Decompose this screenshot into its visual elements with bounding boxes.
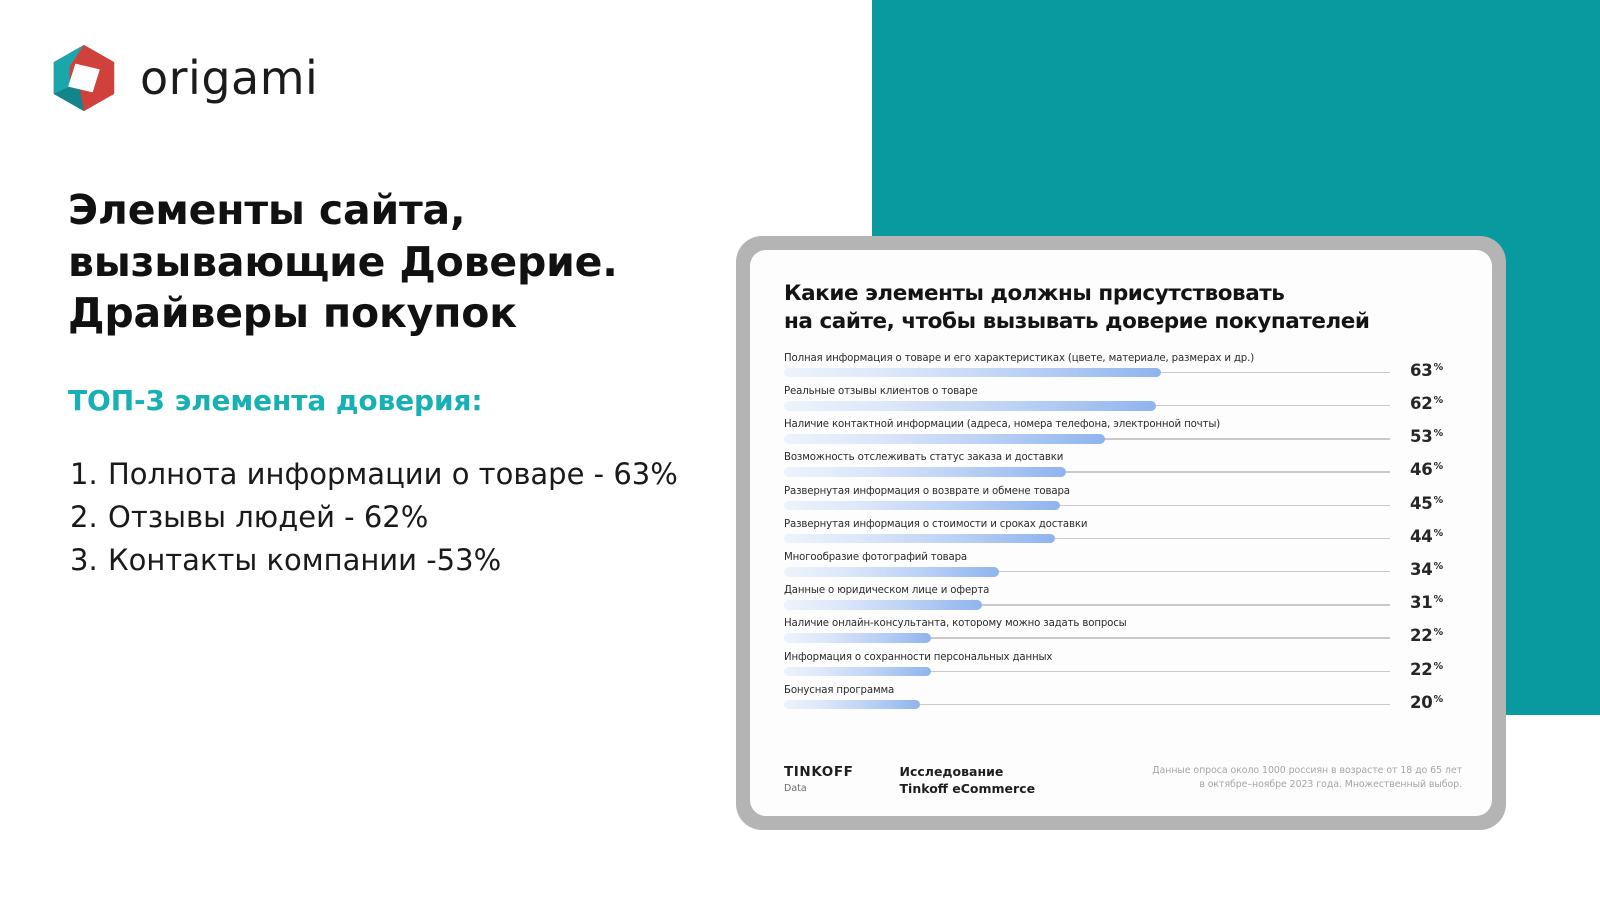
bar-label: Многообразие фотографий товара — [784, 553, 967, 563]
bar-row: Полная информация о товаре и его характе… — [784, 352, 1458, 385]
bar-value: 46% — [1410, 460, 1443, 479]
list-item: Полнота информации о товаре - 63% — [68, 455, 708, 494]
footnote-line-2: в октябре–ноябре 2023 года. Множественны… — [1152, 778, 1462, 792]
bar-value: 31% — [1410, 593, 1443, 612]
origami-cube-icon — [48, 42, 120, 114]
chart-title: Какие элементы должны присутствовать на … — [784, 280, 1458, 336]
bar-fill — [784, 534, 1055, 544]
bar-row: Информация о сохранности персональных да… — [784, 651, 1458, 684]
bar-row: Бонусная программа20% — [784, 684, 1458, 717]
bar-track — [784, 405, 1390, 406]
bar-fill — [784, 434, 1105, 444]
bar-label: Развернутая информация о стоимости и сро… — [784, 520, 1087, 530]
source-brand-sub: Data — [784, 783, 854, 795]
source-brand-name: TINKOFF — [784, 764, 854, 781]
footnote-line-1: Данные опроса около 1000 россиян в возра… — [1152, 764, 1462, 778]
list-item: Отзывы людей - 62% — [68, 498, 708, 537]
chart-card: Какие элементы должны присутствовать на … — [750, 250, 1492, 816]
bar-value: 34% — [1410, 560, 1443, 579]
study-line-2: Tinkoff eCommerce — [900, 781, 1036, 798]
bar-value: 45% — [1410, 494, 1443, 513]
bar-label: Данные о юридическом лице и оферта — [784, 586, 989, 596]
bar-track — [784, 671, 1390, 672]
bar-label: Наличие онлайн-консультанта, которому мо… — [784, 619, 1127, 629]
bar-label: Развернутая информация о возврате и обме… — [784, 487, 1070, 497]
chart-title-line-1: Какие элементы должны присутствовать — [784, 280, 1458, 308]
subheading: ТОП-3 элемента доверия: — [68, 384, 708, 417]
chart-title-line-2: на сайте, чтобы вызывать доверие покупат… — [784, 308, 1458, 336]
bar-fill — [784, 667, 931, 677]
bar-chart: Полная информация о товаре и его характе… — [784, 352, 1458, 717]
bar-fill — [784, 401, 1156, 411]
bar-fill — [784, 501, 1060, 511]
bar-label: Наличие контактной информации (адреса, н… — [784, 420, 1220, 430]
bar-fill — [784, 700, 920, 710]
bar-label: Возможность отслеживать статус заказа и … — [784, 453, 1063, 463]
bar-fill — [784, 600, 982, 610]
brand-logo: origami — [48, 42, 318, 114]
bar-label: Информация о сохранности персональных да… — [784, 653, 1052, 663]
bar-fill — [784, 567, 999, 577]
bar-track — [784, 704, 1390, 705]
bar-row: Возможность отслеживать статус заказа и … — [784, 451, 1458, 484]
top-three-list: Полнота информации о товаре - 63% Отзывы… — [68, 455, 708, 580]
teal-background-block-top — [872, 0, 1600, 249]
bar-value: 44% — [1410, 527, 1443, 546]
bar-track — [784, 571, 1390, 572]
headline-line-1: Элементы сайта, — [68, 185, 708, 237]
bar-row: Развернутая информация о стоимости и сро… — [784, 518, 1458, 551]
headline-line-2: вызывающие Доверие. — [68, 237, 708, 289]
chart-footer: TINKOFF Data Исследование Tinkoff eComme… — [784, 764, 1462, 798]
bar-track — [784, 604, 1390, 605]
bar-row: Данные о юридическом лице и оферта31% — [784, 584, 1458, 617]
bar-track — [784, 538, 1390, 539]
bar-value: 22% — [1410, 660, 1443, 679]
brand-wordmark: origami — [140, 55, 318, 101]
chart-card-frame: Какие элементы должны присутствовать на … — [736, 236, 1506, 830]
slide-left-column: Элементы сайта, вызывающие Доверие. Драй… — [68, 185, 708, 584]
bar-row: Наличие контактной информации (адреса, н… — [784, 418, 1458, 451]
bar-track — [784, 372, 1390, 373]
bar-value: 62% — [1410, 394, 1443, 413]
bar-track — [784, 471, 1390, 472]
study-label: Исследование Tinkoff eCommerce — [900, 764, 1036, 798]
bar-fill — [784, 633, 931, 643]
bar-row: Наличие онлайн-консультанта, которому мо… — [784, 617, 1458, 650]
bar-label: Бонусная программа — [784, 686, 894, 696]
bar-value: 63% — [1410, 361, 1443, 380]
chart-footnote: Данные опроса около 1000 россиян в возра… — [1152, 764, 1462, 792]
bar-value: 20% — [1410, 693, 1443, 712]
study-line-1: Исследование — [900, 764, 1036, 781]
bar-fill — [784, 467, 1066, 477]
page-title: Элементы сайта, вызывающие Доверие. Драй… — [68, 185, 708, 340]
bar-fill — [784, 368, 1161, 378]
bar-track — [784, 438, 1390, 439]
bar-label: Полная информация о товаре и его характе… — [784, 354, 1254, 364]
source-brand: TINKOFF Data — [784, 764, 854, 795]
bar-value: 53% — [1410, 427, 1443, 446]
bar-track — [784, 637, 1390, 638]
bar-value: 22% — [1410, 626, 1443, 645]
headline-line-3: Драйверы покупок — [68, 288, 708, 340]
bar-label: Реальные отзывы клиентов о товаре — [784, 387, 978, 397]
chart-footer-left: TINKOFF Data Исследование Tinkoff eComme… — [784, 764, 1035, 798]
list-item: Контакты компании -53% — [68, 541, 708, 580]
bar-track — [784, 505, 1390, 506]
bar-row: Развернутая информация о возврате и обме… — [784, 485, 1458, 518]
bar-row: Многообразие фотографий товара34% — [784, 551, 1458, 584]
bar-row: Реальные отзывы клиентов о товаре62% — [784, 385, 1458, 418]
